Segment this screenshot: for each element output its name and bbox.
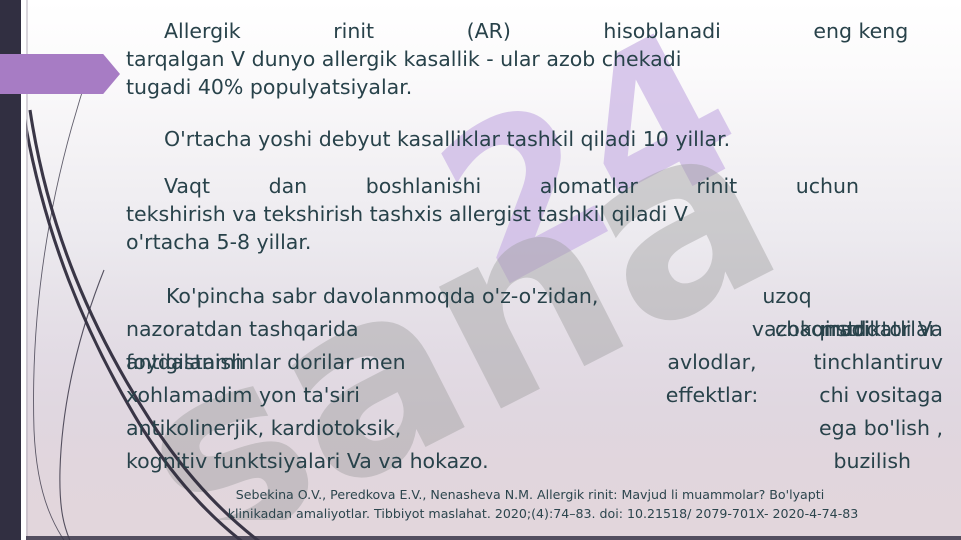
col-c-line-ega-bolish: ega bo'lish , <box>759 412 943 445</box>
overlap-column-d: chaqiradi <box>759 280 943 346</box>
slide-text-content: Allergik rinit (AR) hisoblanadi eng keng… <box>126 0 943 540</box>
paragraph-1: Allergik rinit (AR) hisoblanadi eng keng… <box>126 17 943 101</box>
p3-word-alomatlar: alomatlar <box>540 174 638 198</box>
col-a-line-5: antikolinerjik, kardiotoksik, <box>126 412 826 445</box>
p1-line-2: tarqalgan V dunyo allergik kasallik - ul… <box>126 45 943 73</box>
col-a-line-6: kognitiv funktsiyalari Va va hokazo. <box>126 445 826 478</box>
p1-line-3: tugadi 40% populyatsiyalar. <box>126 75 412 99</box>
p3-line-3: o'rtacha 5-8 yillar. <box>126 230 311 254</box>
col-a-line-1-text: Ko'pincha sabr davolanmoqda o'z-o'zidan, <box>166 284 598 308</box>
citation-line-2: klinikadan amaliyotlar. Tibbiyot maslaha… <box>150 504 910 523</box>
p1-word-ar: (AR) <box>467 19 511 43</box>
citation-line-1: Sebekina O.V., Peredkova E.V., Nenasheva… <box>150 485 910 504</box>
p1-word-rinit: rinit <box>333 19 374 43</box>
purple-arrow-banner <box>0 54 120 94</box>
slide-canvas: 24 sana Allergik rinit (AR) hisoblanadi … <box>0 0 961 540</box>
p3-word-boshlanishi: boshlanishi <box>366 174 482 198</box>
p3-word-uchun: uchun <box>796 174 859 198</box>
p1-word-hisoblanadi: hisoblanadi <box>603 19 720 43</box>
col-d-spacer <box>759 280 943 313</box>
overlap-pair-foydalanish-antigistaminlar: antigistaminlar dorilar men antigistamin… <box>126 346 406 379</box>
paragraph-3: Vaqt dan boshlanishi alomatlar rinit uch… <box>126 172 943 256</box>
p3-word-dan: dan <box>269 174 308 198</box>
paragraph-2-text: O'rtacha yoshi debyut kasalliklar tashki… <box>164 127 730 151</box>
paragraph-2: O'rtacha yoshi debyut kasalliklar tashki… <box>126 125 943 153</box>
col-d-line-chaqiradi: chaqiradi <box>759 313 943 346</box>
citation: Sebekina O.V., Peredkova E.V., Nenasheva… <box>150 485 910 523</box>
p3-line-2: tekshirish va tekshirish tashxis allergi… <box>126 200 943 228</box>
overlapping-text-block: Ko'pincha sabr davolanmoqda o'z-o'zidan,… <box>126 280 943 480</box>
col-c-line-tinchlantiruv: tinchlantiruv <box>759 346 943 379</box>
p1-word-engkeng: eng keng <box>813 19 908 43</box>
overlap-text-foydalanish: foydalanish <box>126 346 244 379</box>
p1-word-allergik: Allergik <box>164 19 241 43</box>
p3-word-rinit: rinit <box>696 174 737 198</box>
col-c-line-chi-vositaga: chi vositaga <box>759 379 943 412</box>
p3-word-vaqt: Vaqt <box>164 174 210 198</box>
col-c-line-buzilish: buzilish <box>759 445 943 478</box>
